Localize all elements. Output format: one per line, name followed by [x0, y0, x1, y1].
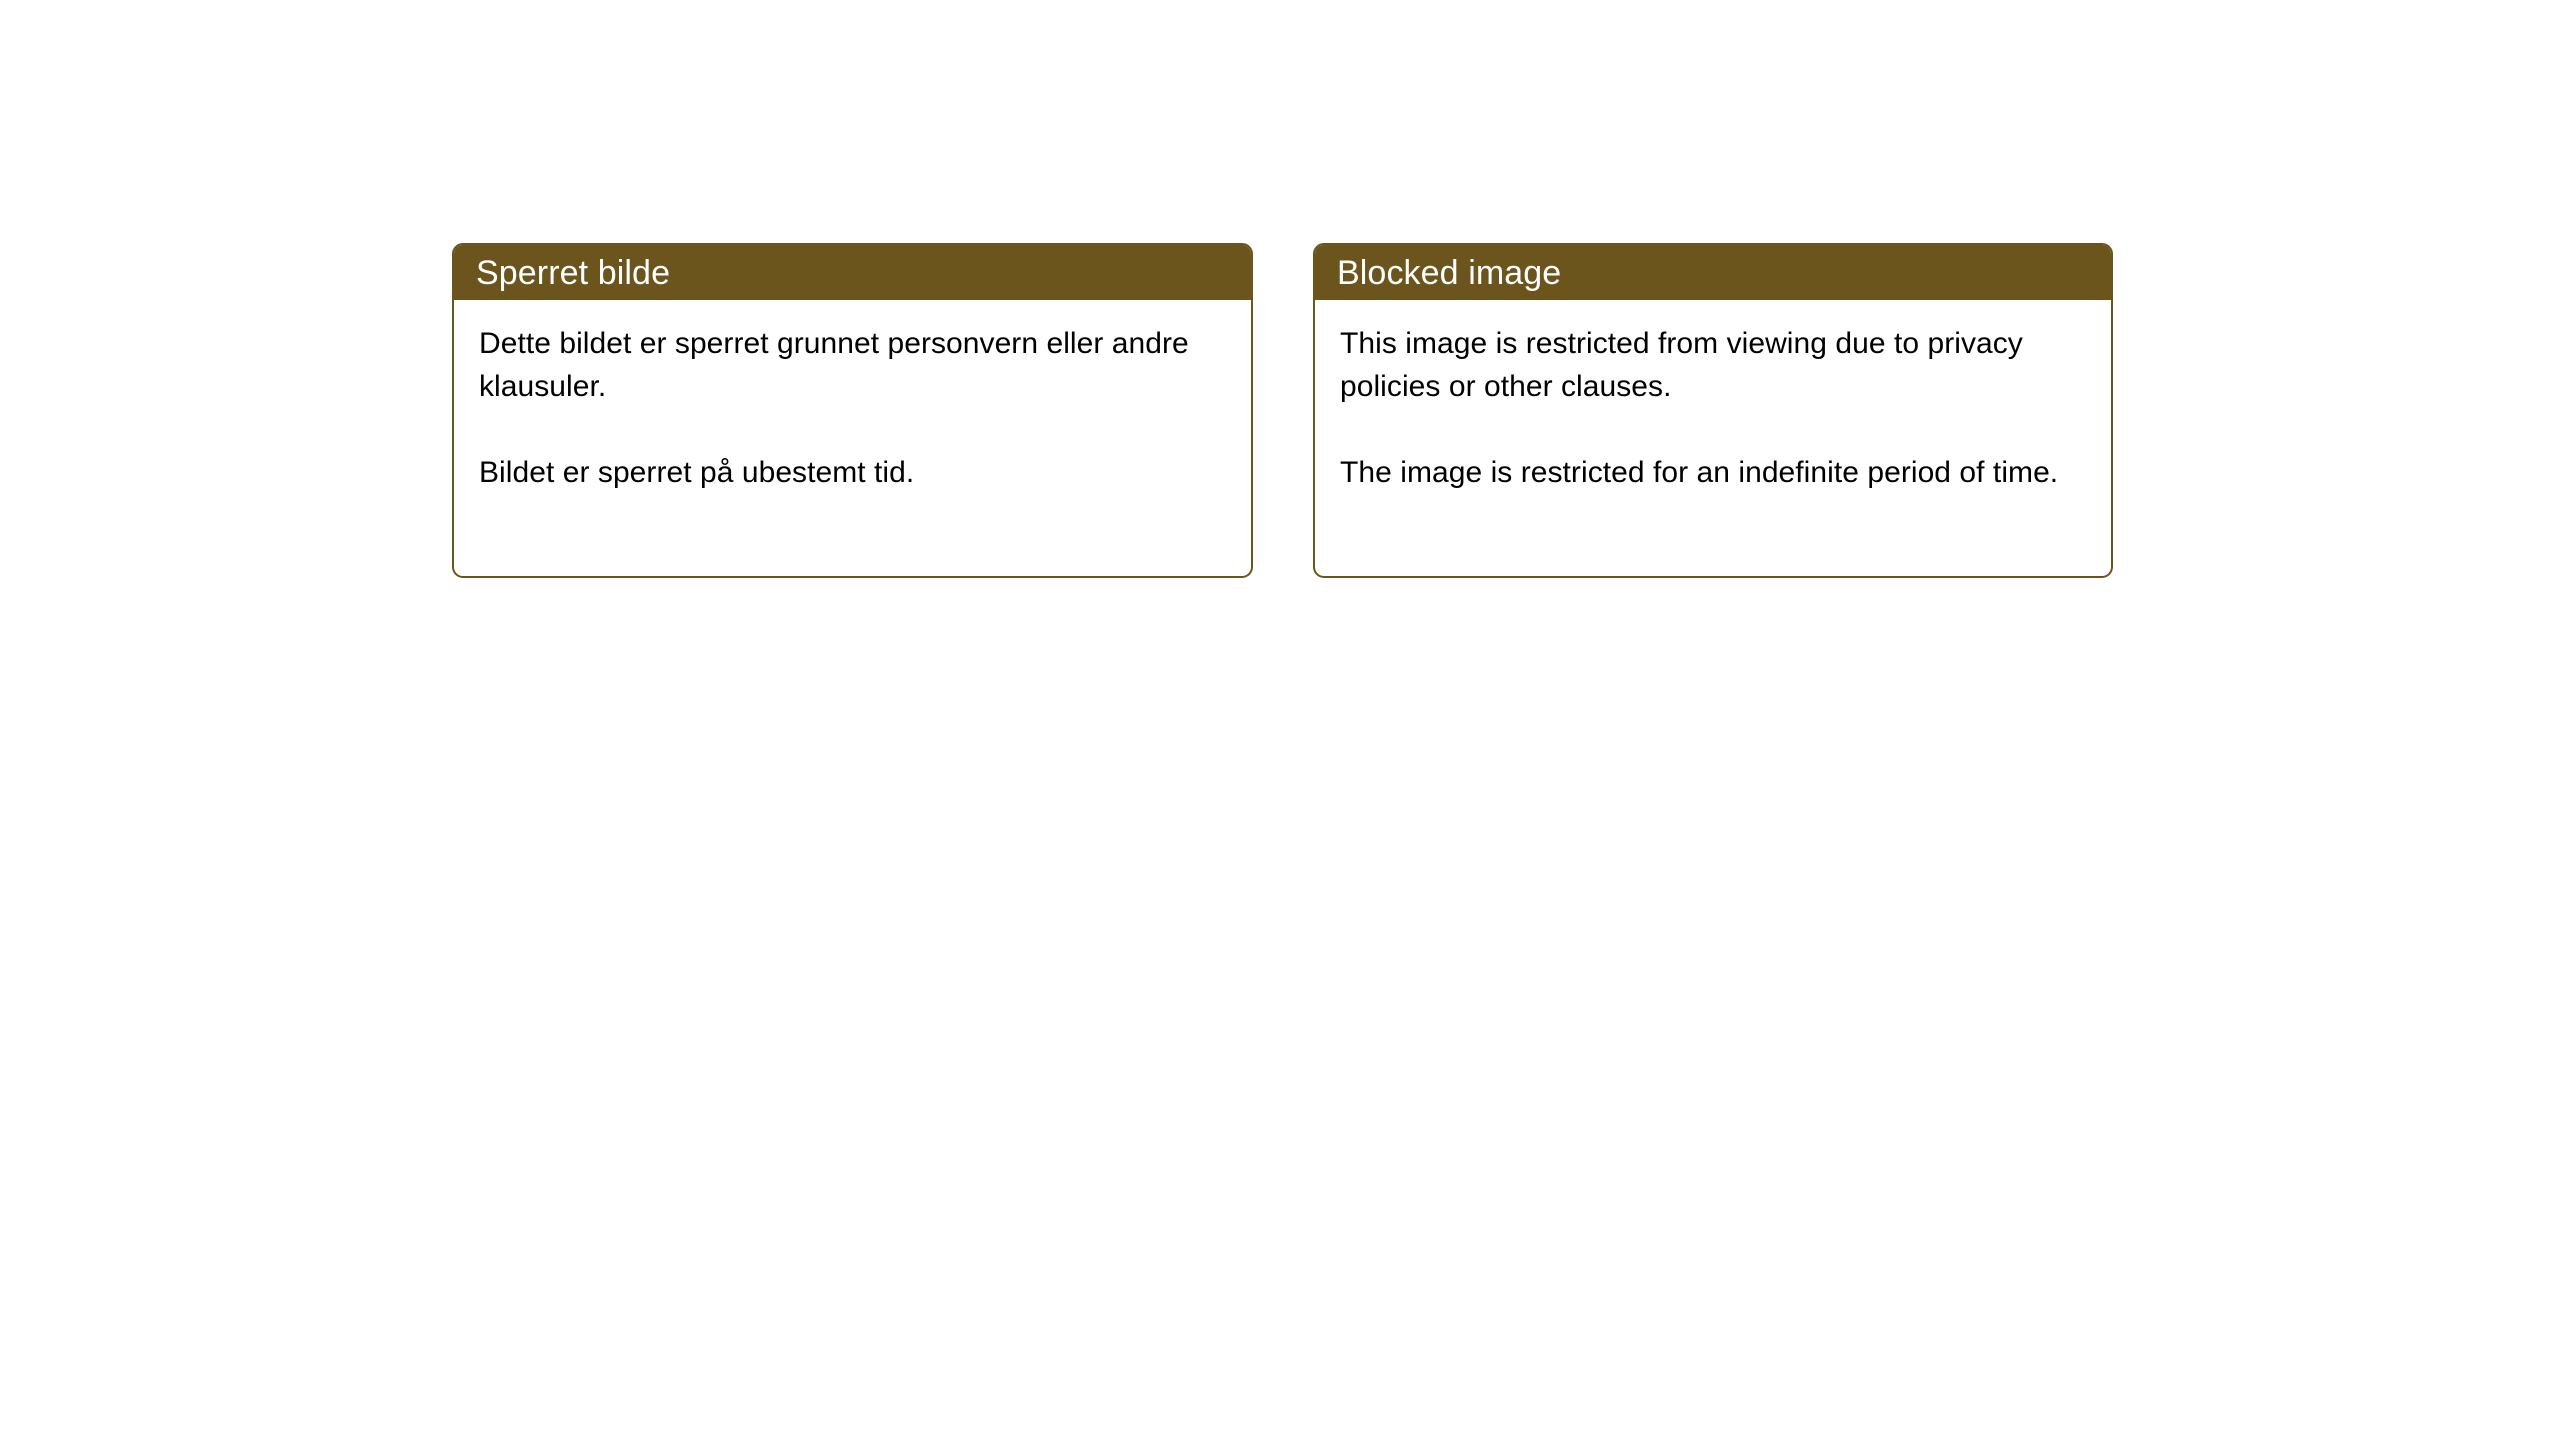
- notice-paragraph-reason-norwegian: Dette bildet er sperret grunnet personve…: [479, 322, 1225, 408]
- notice-body-norwegian: Dette bildet er sperret grunnet personve…: [454, 300, 1251, 504]
- notice-title-english: Blocked image: [1337, 254, 1561, 292]
- notice-paragraph-reason-english: This image is restricted from viewing du…: [1340, 322, 2085, 408]
- notice-paragraph-duration-english: The image is restricted for an indefinit…: [1340, 451, 2085, 494]
- blocked-image-notice-norwegian: Sperret bilde Dette bildet er sperret gr…: [452, 243, 1253, 578]
- notice-paragraph-duration-norwegian: Bildet er sperret på ubestemt tid.: [479, 451, 1225, 494]
- notice-header-english: Blocked image: [1315, 245, 2111, 300]
- blocked-image-notice-english: Blocked image This image is restricted f…: [1313, 243, 2113, 578]
- page-root: Sperret bilde Dette bildet er sperret gr…: [0, 0, 2560, 1440]
- notice-header-norwegian: Sperret bilde: [454, 245, 1251, 300]
- notice-body-english: This image is restricted from viewing du…: [1315, 300, 2111, 504]
- notice-title-norwegian: Sperret bilde: [476, 254, 670, 292]
